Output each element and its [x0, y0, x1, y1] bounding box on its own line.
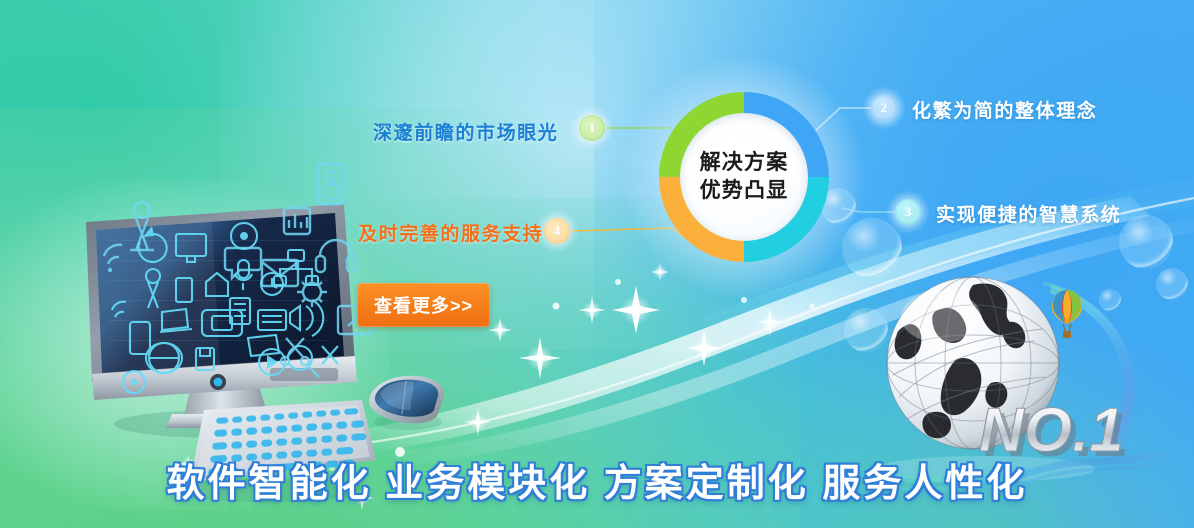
callout-badge-2[interactable]: 2 [871, 95, 897, 121]
headphones-icon [320, 240, 352, 256]
chat-icon [225, 248, 261, 278]
donut-center: 解决方案 优势凸显 [680, 113, 808, 241]
donut-title-line-2: 优势凸显 [700, 177, 789, 205]
view-more-button[interactable]: 查看更多>> [357, 283, 490, 327]
scissors-icon [286, 338, 304, 358]
callout-label-3: 实现便捷的智慧系统 [936, 200, 1121, 227]
floating-tech-icons [90, 160, 420, 390]
hero-banner: NO.1 NO.1 [0, 0, 1194, 528]
balloon-envelope [1052, 290, 1082, 324]
broadcast-icon [136, 218, 148, 250]
balloon-lines [1063, 324, 1071, 331]
banner-tagline: 软件智能化 业务模块化 方案定制化 服务人性化 [0, 452, 1194, 507]
computer-mouse [362, 370, 454, 432]
callout-badge-4[interactable]: 4 [544, 218, 570, 244]
balloon-basket [1063, 331, 1071, 338]
wifi-icon [104, 245, 122, 256]
mail-icon [262, 260, 298, 286]
donut-title-line-1: 解决方案 [700, 149, 789, 177]
callout-badge-3[interactable]: 3 [895, 199, 921, 225]
donut-chart: 解决方案 优势凸显 [654, 87, 834, 267]
callout-label-4: 及时完善的服务支持 [358, 219, 543, 246]
callout-label-2: 化繁为简的整体理念 [912, 96, 1097, 123]
hot-air-balloon [1050, 288, 1084, 340]
callout-label-1: 深邃前瞻的市场眼光 [373, 118, 558, 145]
callout-badge-1[interactable]: 1 [579, 115, 605, 141]
